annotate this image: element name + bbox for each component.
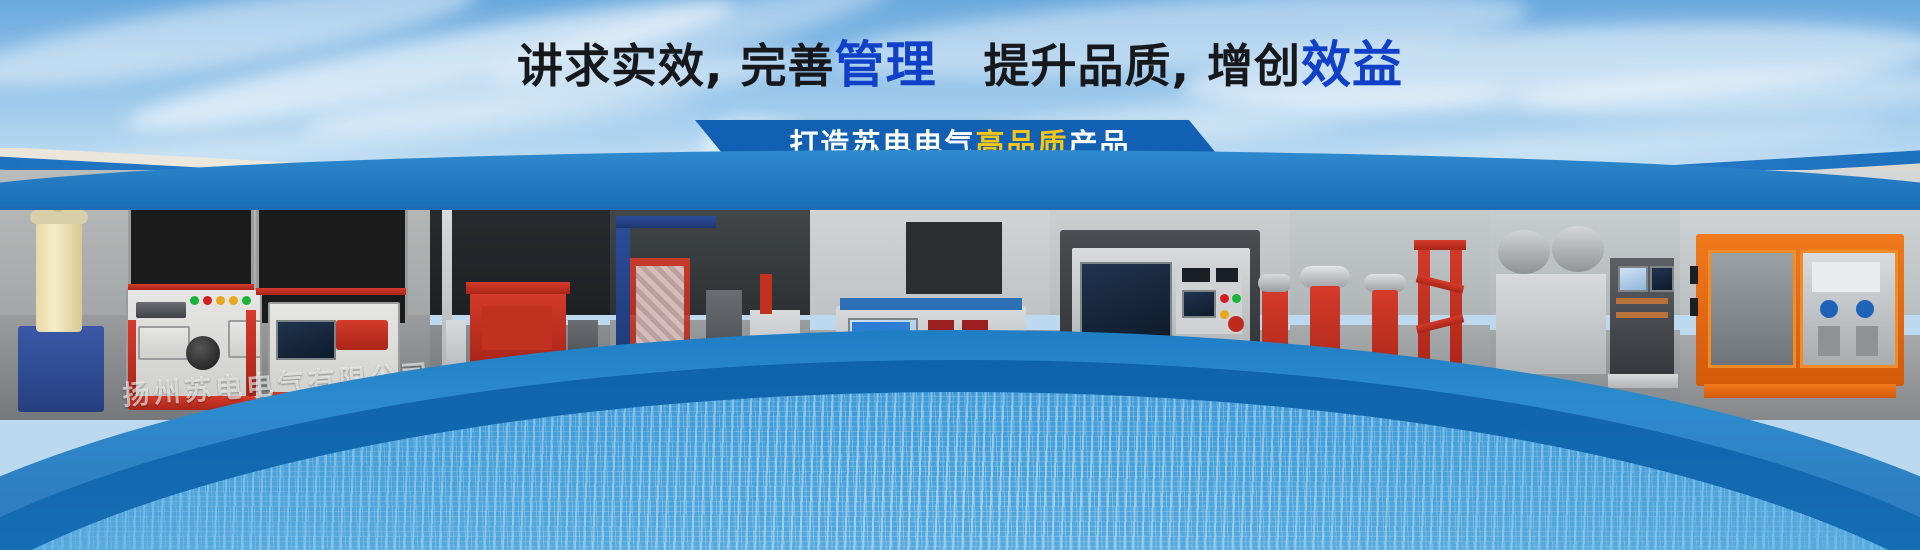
ribbon-suffix: 产品: [1069, 127, 1131, 161]
headline-segment-1: 讲求实效,: [517, 39, 723, 93]
transformer-terminal: [50, 196, 66, 212]
transformer-cap: [30, 210, 88, 224]
shot-orange-oil-machine: 扬州苏电电气有限公司: [1680, 170, 1920, 420]
headline-highlight-benefit: 效益: [1301, 36, 1403, 94]
arc-sparkle-texture: [0, 392, 1920, 550]
bottom-arc-inner: [0, 392, 1920, 550]
headline-highlight-management: 管理: [834, 36, 936, 94]
headline-segment-5: 增创: [1207, 39, 1301, 93]
banner-stage: 讲求实效, 完善管理 提升品质, 增创效益 打造苏电电气高品质产品: [0, 0, 1920, 550]
headline-segment-2: 完善: [740, 39, 834, 93]
transformer-bushing: [36, 222, 82, 332]
ribbon-text: 打造苏电电气高品质产品: [789, 121, 1130, 163]
ribbon-container: 打造苏电电气高品质产品: [0, 118, 1920, 166]
headline-segment-4: 提升品质,: [984, 39, 1190, 93]
slogan-ribbon: 打造苏电电气高品质产品: [731, 120, 1188, 164]
banner-headline: 讲求实效, 完善管理 提升品质, 增创效益: [0, 34, 1920, 97]
ribbon-highlight: 高品质: [975, 127, 1068, 161]
ribbon-prefix: 打造苏电电气: [789, 127, 975, 161]
